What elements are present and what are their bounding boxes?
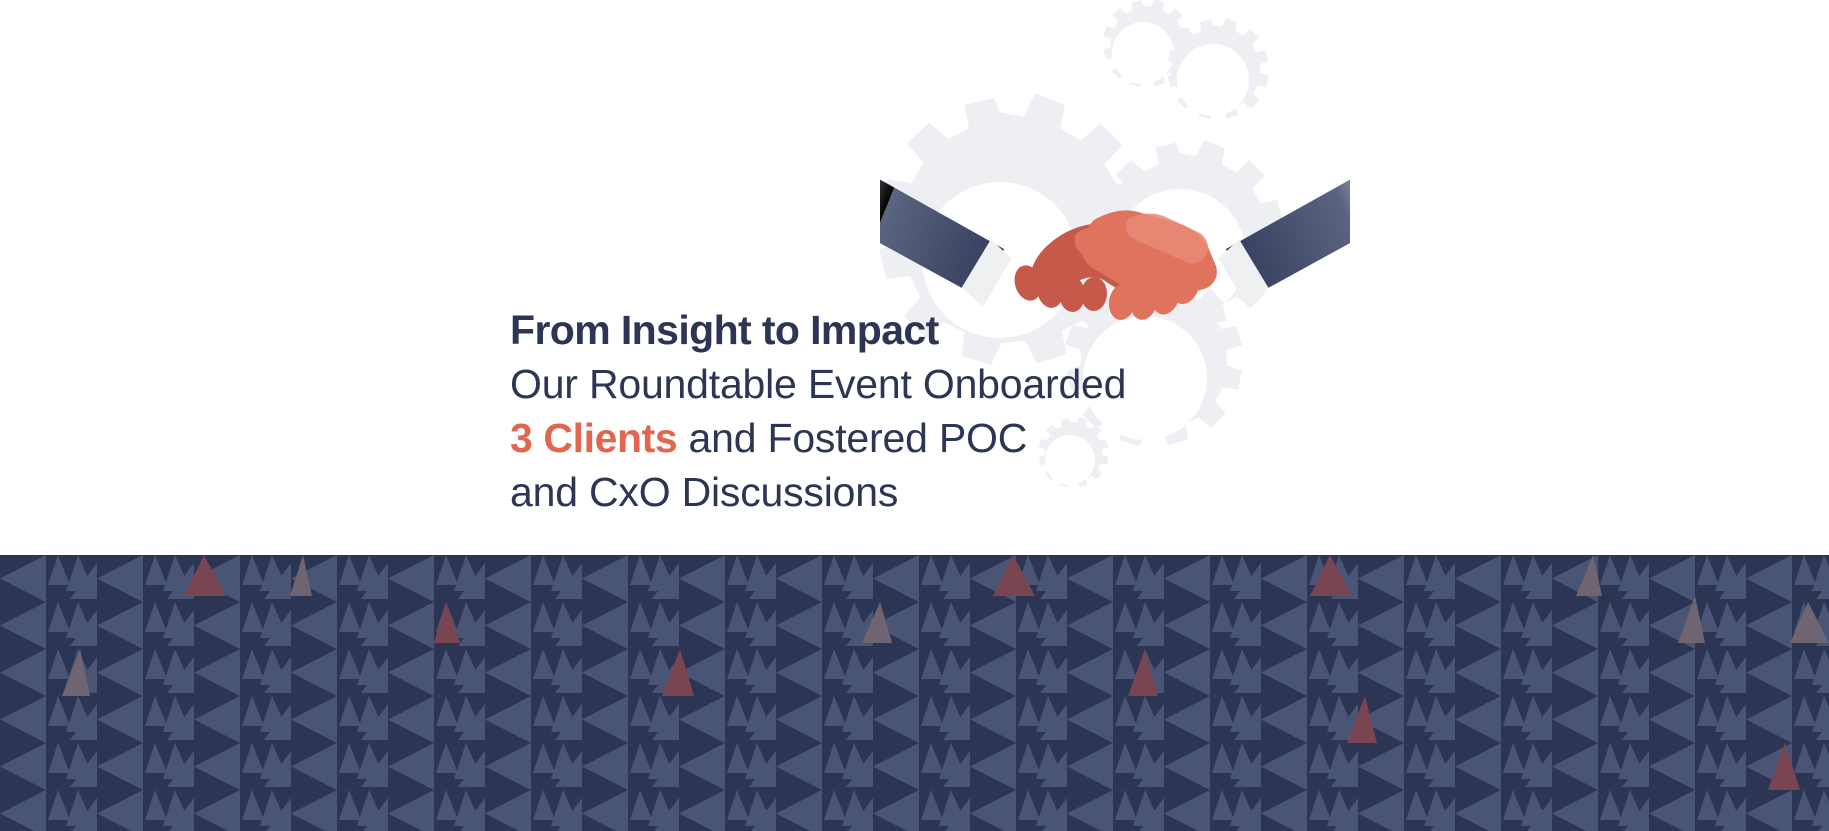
upper-content-area: From Insight to Impact Our Roundtable Ev… [0, 0, 1829, 555]
slide-root: From Insight to Impact Our Roundtable Ev… [0, 0, 1829, 831]
hand-back [1011, 224, 1172, 313]
headline-line-4: and CxO Discussions [510, 465, 1210, 519]
right-sleeve [1213, 150, 1350, 299]
left-cuff [958, 236, 1015, 309]
right-cuff [1215, 236, 1272, 309]
headline-block: From Insight to Impact Our Roundtable Ev… [510, 303, 1210, 519]
headline-line-3: 3 Clients and Fostered POC [510, 411, 1210, 465]
triangle-pattern-band [0, 555, 1829, 831]
band-triangles [0, 555, 1829, 831]
headline-line-1: From Insight to Impact [510, 303, 1210, 357]
accent-client-count: 3 Clients [510, 415, 677, 461]
headline-line-2: Our Roundtable Event Onboarded [510, 357, 1210, 411]
thumb-highlight [1126, 214, 1208, 264]
headline-line-3-rest: and Fostered POC [677, 415, 1027, 461]
left-sleeve [880, 150, 1017, 299]
triangle-pattern-svg [0, 555, 1829, 831]
